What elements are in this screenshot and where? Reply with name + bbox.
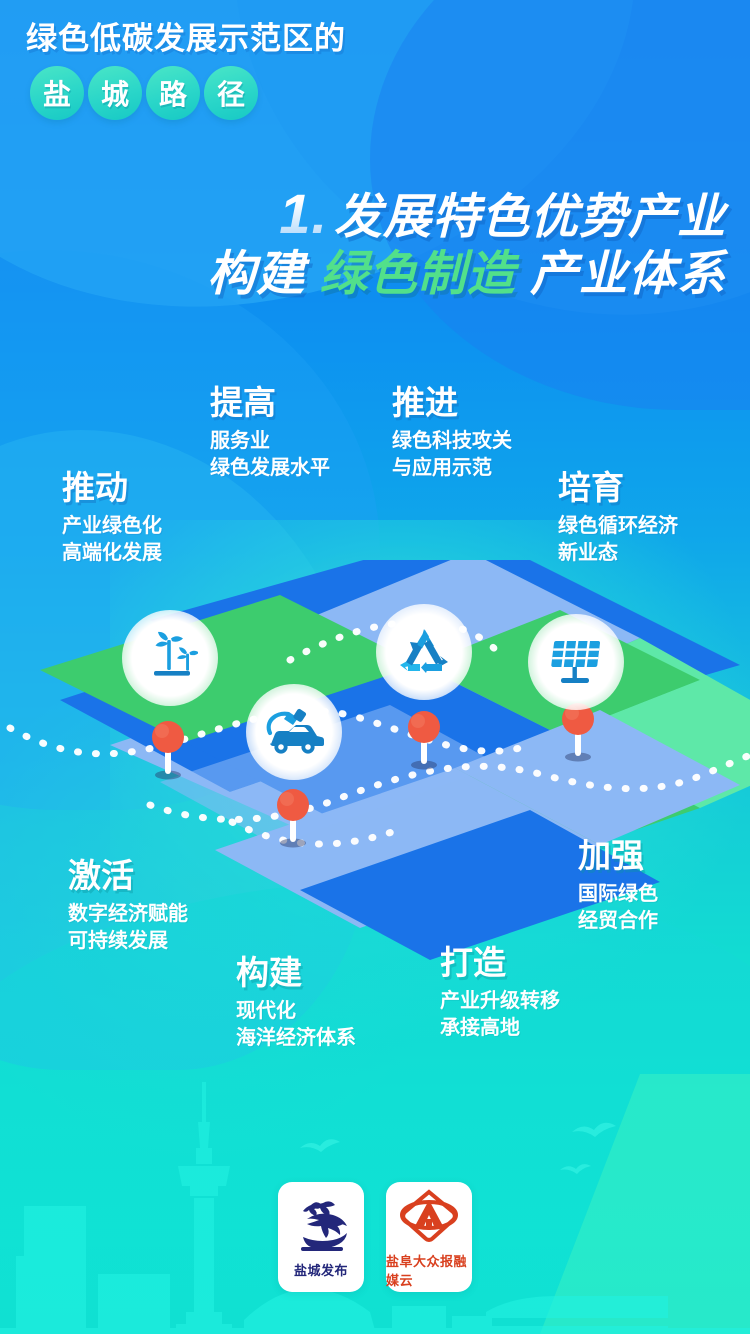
recycle-icon [396, 626, 452, 678]
footer-logos: 盐城发布 盐阜大众报融媒云 [0, 1182, 750, 1292]
icon-bubble-wind[interactable] [122, 610, 218, 706]
label-desc-1: 国际绿色 [578, 881, 658, 908]
label-desc-2: 承接高地 [440, 1015, 560, 1042]
bubble-halo [376, 604, 472, 700]
diamond-media-mark [397, 1186, 461, 1248]
poster-root: 绿色低碳发展示范区的 盐 城 路 径 1.发展特色优势产业 构建 绿色制造 产业… [0, 0, 750, 1334]
label-desc-2: 经贸合作 [578, 908, 658, 935]
bubble-halo [246, 684, 342, 780]
header-badge-3: 径 [204, 66, 258, 120]
icon-bubble-recycle[interactable] [376, 604, 472, 700]
solar-panel-icon [547, 635, 605, 689]
bird-icons [300, 1123, 616, 1174]
label-block-jiaqiang: 加强 国际绿色 经贸合作 [578, 838, 658, 934]
main-heading: 1.发展特色优势产业 构建 绿色制造 产业体系 [207, 182, 726, 303]
label-block-tuidong: 推动 产业绿色化 高端化发展 [62, 470, 162, 566]
label-desc-2: 可持续发展 [68, 928, 188, 955]
heading-line-1: 1.发展特色优势产业 [207, 182, 726, 247]
electric-car-icon [261, 706, 327, 758]
poster-header: 绿色低碳发展示范区的 盐 城 路 径 [26, 22, 346, 120]
label-desc-2: 高端化发展 [62, 540, 162, 567]
heading-line-2-highlight: 绿色制造 [320, 248, 516, 301]
heading-number: 1. [279, 182, 328, 245]
label-title: 构建 [236, 955, 356, 991]
header-badge-0: 盐 [30, 66, 84, 120]
label-title: 激活 [68, 858, 188, 894]
label-desc-1: 绿色循环经济 [558, 513, 678, 540]
label-desc-2: 新业态 [558, 540, 678, 567]
bubble-halo [528, 614, 624, 710]
logo-yanfu-media[interactable]: 盐阜大众报融媒云 [386, 1182, 472, 1292]
header-badge-group: 盐 城 路 径 [30, 66, 346, 120]
label-block-tuijin: 推进 绿色科技攻关 与应用示范 [392, 385, 512, 481]
map-pin-wind[interactable] [148, 718, 188, 780]
map-pin-recycle[interactable] [404, 708, 444, 770]
label-title: 推进 [392, 385, 512, 421]
label-desc-2: 绿色发展水平 [210, 455, 330, 482]
icon-bubble-solar[interactable] [528, 614, 624, 710]
label-desc-1: 数字经济赋能 [68, 901, 188, 928]
heading-line-2-part-a: 构建 [207, 248, 305, 301]
label-desc-1: 绿色科技攻关 [392, 428, 512, 455]
header-kicker: 绿色低碳发展示范区的 [26, 22, 346, 56]
heading-line-1-text: 发展特色优势产业 [334, 191, 726, 244]
map-pin-car[interactable] [273, 786, 313, 848]
logo-caption: 盐阜大众报融媒云 [386, 1251, 472, 1289]
label-block-goujian: 构建 现代化 海洋经济体系 [236, 955, 356, 1051]
label-block-jihuo: 激活 数字经济赋能 可持续发展 [68, 858, 188, 954]
icon-bubble-car[interactable] [246, 684, 342, 780]
label-desc-1: 服务业 [210, 428, 330, 455]
wind-turbine-icon [142, 631, 198, 685]
label-desc-1: 产业绿色化 [62, 513, 162, 540]
label-desc-2: 海洋经济体系 [236, 1025, 356, 1052]
label-title: 提高 [210, 385, 330, 421]
label-title: 打造 [440, 945, 560, 981]
label-block-peiyu: 培育 绿色循环经济 新业态 [558, 470, 678, 566]
label-title: 培育 [558, 470, 678, 506]
label-block-tigao: 提高 服务业 绿色发展水平 [210, 385, 330, 481]
header-badge-2: 路 [146, 66, 200, 120]
logo-yancheng-fabu[interactable]: 盐城发布 [278, 1182, 364, 1292]
label-desc-1: 产业升级转移 [440, 988, 560, 1015]
heading-line-2-part-b: 产业体系 [530, 248, 726, 301]
label-block-dazao: 打造 产业升级转移 承接高地 [440, 945, 560, 1041]
label-title: 推动 [62, 470, 162, 506]
header-badge-1: 城 [88, 66, 142, 120]
bubble-halo [122, 610, 218, 706]
label-desc-2: 与应用示范 [392, 455, 512, 482]
label-desc-1: 现代化 [236, 998, 356, 1025]
label-title: 加强 [578, 838, 658, 874]
crane-phoenix-mark [289, 1195, 353, 1257]
heading-line-2: 构建 绿色制造 产业体系 [207, 247, 726, 303]
logo-caption: 盐城发布 [294, 1260, 348, 1279]
